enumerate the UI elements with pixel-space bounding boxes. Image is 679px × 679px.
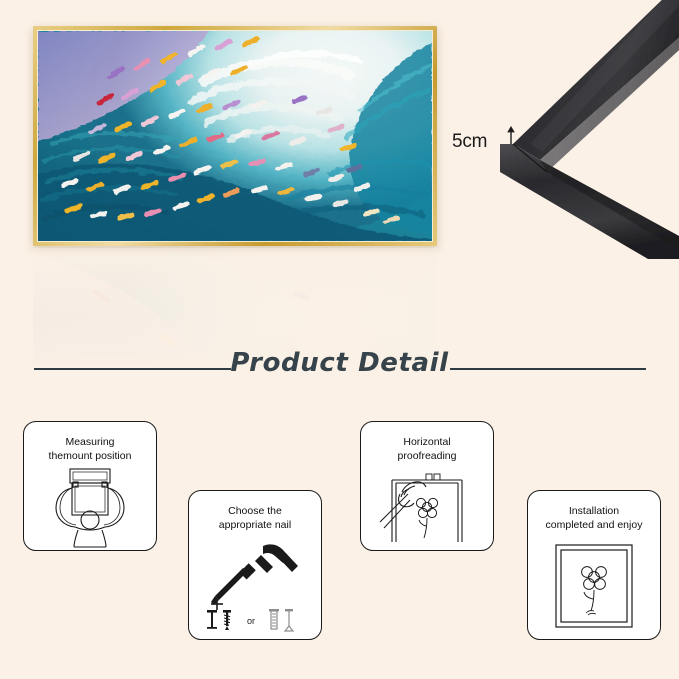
step-card-illustration	[361, 463, 493, 550]
dimension-label: 5cm	[452, 131, 487, 153]
section-heading: Product Detail	[0, 348, 679, 392]
step-card-title: Horizontal proofreading	[390, 435, 465, 463]
step-card-title: Measuring themount position	[41, 435, 140, 463]
heading-rule-right	[450, 368, 646, 370]
step-card-title: Choose the appropriate nail	[211, 504, 299, 532]
framed-flower-picture-icon	[550, 539, 638, 633]
step-card-illustration	[24, 463, 156, 550]
page-title: Product Detail	[0, 348, 679, 378]
step-card-title: Installation completed and enjoy	[538, 504, 651, 532]
hand-leveling-frame-icon	[378, 470, 476, 544]
fish-swirl-artwork	[38, 31, 432, 241]
hammer-and-nails-icon: or	[203, 538, 307, 634]
step-card-measuring: Measuring themount position	[23, 421, 157, 551]
step-card-horizontal-proofreading: Horizontal proofreading	[360, 421, 494, 551]
black-frame-corner-sample	[500, 0, 679, 259]
painting-canvas	[38, 31, 432, 241]
step-card-illustration	[528, 532, 660, 639]
person-holding-frame-icon	[42, 466, 138, 548]
or-separator-label: or	[247, 616, 255, 626]
step-card-installation-complete: Installation completed and enjoy	[527, 490, 661, 640]
step-card-choose-nail: Choose the appropriate nail	[188, 490, 322, 640]
product-detail-page: 5cm	[0, 0, 679, 679]
step-card-illustration: or	[189, 532, 321, 639]
framed-painting	[33, 26, 437, 246]
hero-section: 5cm	[0, 0, 679, 345]
